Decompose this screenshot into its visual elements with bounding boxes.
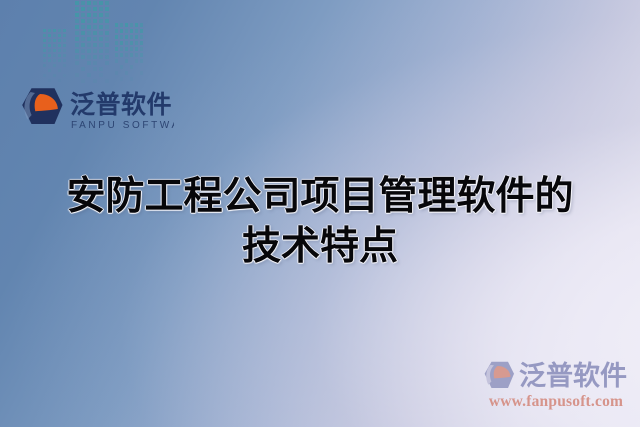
fanpu-software-logo: 泛普软件 FANPU SOFTWARE bbox=[16, 86, 174, 134]
banner-headline: 安防工程公司项目管理软件的 技术特点 bbox=[0, 172, 640, 272]
logo-mark-icon bbox=[22, 88, 62, 124]
site-watermark: 泛普软件 www.fanpusoft.com bbox=[480, 359, 632, 415]
logo-wordmark-cn: 泛普软件 bbox=[70, 90, 172, 119]
watermark-logo-mark-icon bbox=[480, 360, 518, 394]
watermark-url-label: www.fanpusoft.com bbox=[480, 393, 632, 410]
watermark-brand-label: 泛普软件 bbox=[519, 362, 627, 392]
promo-banner: 泛普软件 FANPU SOFTWARE 安防工程公司项目管理软件的 技术特点 泛… bbox=[0, 0, 640, 427]
watermark-brand-row: 泛普软件 bbox=[480, 359, 632, 395]
logo-wordmark-en: FANPU SOFTWARE bbox=[71, 120, 174, 131]
pixel-skyline-mosaic-icon bbox=[42, 0, 150, 88]
